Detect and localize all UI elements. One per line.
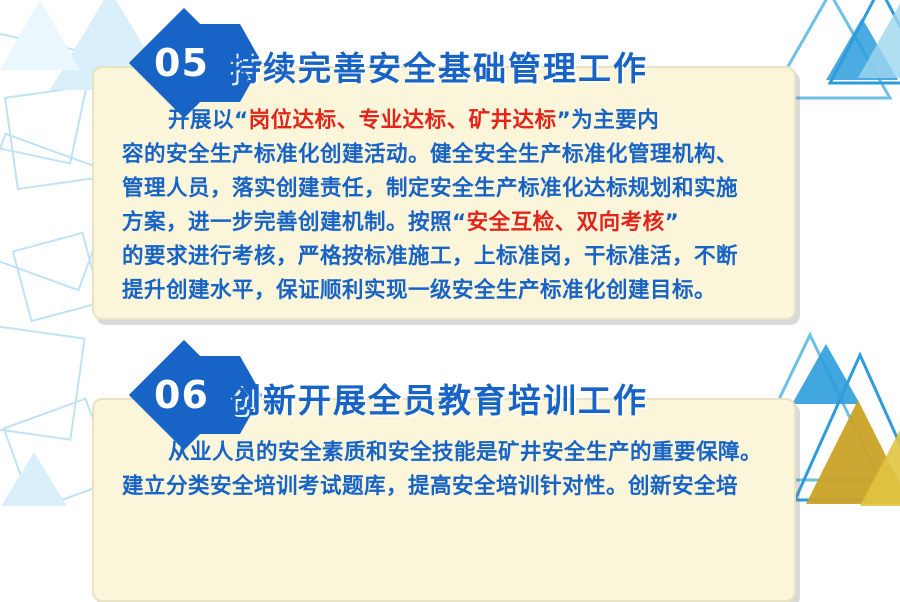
highlight-phrase: 安全互检、双向考核 — [467, 210, 665, 235]
highlight-phrase: 岗位达标、专业达标、矿井达标 — [249, 108, 557, 133]
decor-triangle-filled — [858, 0, 900, 78]
body-line: 管理人员，落实创建责任，制定安全生产标准化达标规划和实施 — [122, 176, 738, 201]
body-line: 的要求进行考核，严格按标准施工，上标准岗，干标准活，不断 — [122, 244, 738, 269]
section-title-06: 创新开展全员教育培训工作 — [228, 374, 648, 422]
decor-triangle-filled — [792, 344, 860, 404]
decor-triangle-filled — [860, 430, 900, 506]
body-line: 容的安全生产标准化创建活动。健全安全生产标准化管理机构、 — [122, 142, 738, 167]
body-line: 方案，进一步完善创建机制。按照“安全互检、双向考核” — [122, 210, 679, 235]
section-number-05: 05 — [128, 24, 240, 102]
body-line: 建立分类安全培训考试题库，提高安全培训针对性。创新安全培 — [122, 474, 738, 499]
section-number-06: 06 — [128, 356, 240, 434]
section-body-05: 开展以“岗位达标、专业达标、矿井达标”为主要内 容的安全生产标准化创建活动。健全… — [122, 104, 762, 308]
body-line: 开展以“岗位达标、专业达标、矿井达标”为主要内 — [168, 108, 659, 133]
section-badge-05: 05 — [128, 24, 240, 102]
body-line: 从业人员的安全素质和安全技能是矿井安全生产的重要保障。 — [168, 440, 762, 465]
section-body-06: 从业人员的安全素质和安全技能是矿井安全生产的重要保障。 建立分类安全培训考试题库… — [122, 436, 762, 504]
section-title-05: 持续完善安全基础管理工作 — [228, 42, 648, 90]
body-line: 提升创建水平，保证顺利实现一级安全生产标准化创建目标。 — [122, 278, 716, 303]
section-badge-06: 06 — [128, 356, 240, 434]
